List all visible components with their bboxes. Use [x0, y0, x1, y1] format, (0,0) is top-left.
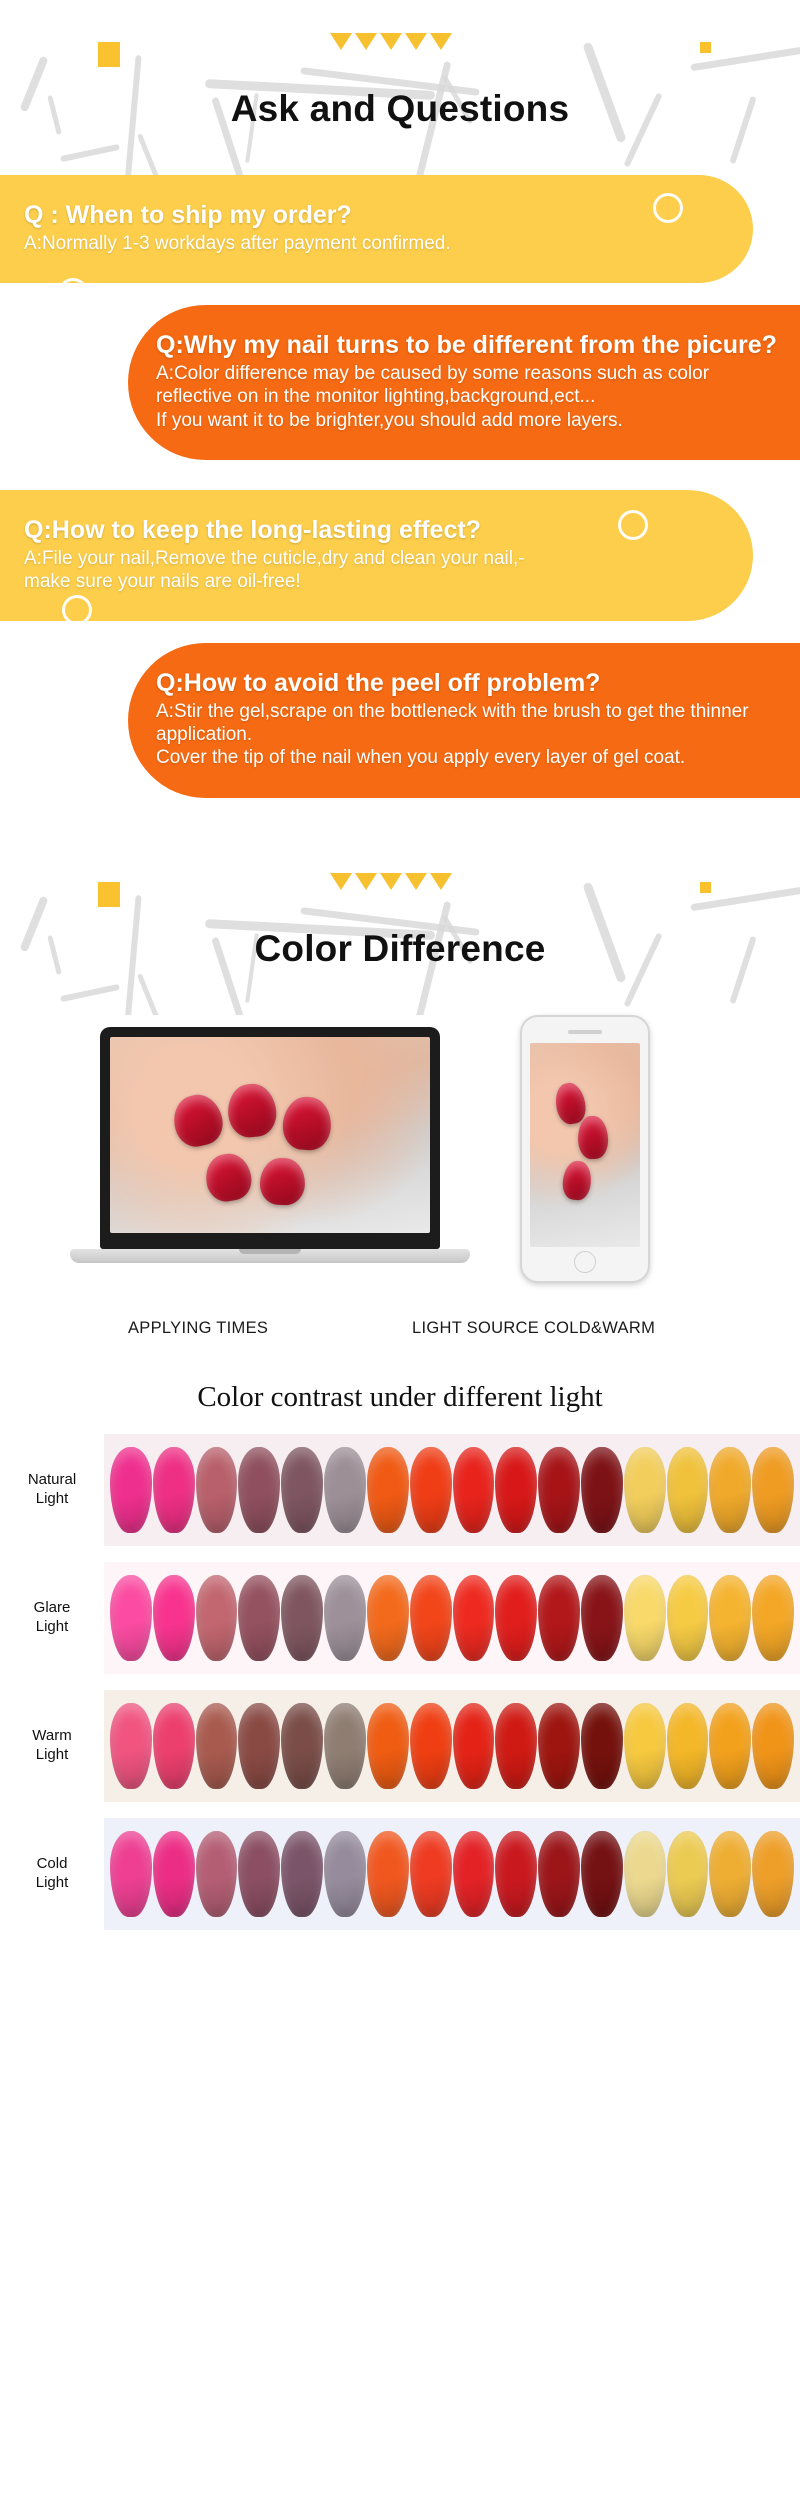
- swatch-nail: [709, 1703, 751, 1789]
- swatch-nail: [281, 1703, 323, 1789]
- nail-photo-laptop: [110, 1037, 430, 1233]
- nail-shape: [561, 1160, 592, 1201]
- faq-question: Q : When to ship my order?: [24, 201, 713, 230]
- crack-decor: [137, 973, 164, 1015]
- swatch-nail: [196, 1703, 238, 1789]
- swatch-nail: [453, 1447, 495, 1533]
- swatch-nail: [624, 1575, 666, 1661]
- swatch-nail: [238, 1831, 280, 1917]
- row-label-glare-light: Glare Light: [0, 1599, 104, 1637]
- swatch-strip-cold: [104, 1818, 800, 1930]
- swatch-nail: [324, 1703, 366, 1789]
- caption-applying-times: APPLYING TIMES: [128, 1319, 268, 1338]
- row-label-natural-light: Natural Light: [0, 1471, 104, 1509]
- nail-shape: [281, 1096, 333, 1152]
- swatch-nail: [238, 1575, 280, 1661]
- swatch-nail: [238, 1703, 280, 1789]
- swatch-nail: [667, 1575, 709, 1661]
- faq-section-title: Ask and Questions: [0, 88, 800, 130]
- swatch-nail: [367, 1575, 409, 1661]
- faq-question: Q:How to avoid the peel off problem?: [156, 669, 790, 698]
- swatch-nail: [324, 1447, 366, 1533]
- swatch-nail: [581, 1575, 623, 1661]
- swatch-nail: [538, 1447, 580, 1533]
- swatch-nail: [153, 1575, 195, 1661]
- nail-shape: [578, 1115, 609, 1159]
- nail-photo-phone: [530, 1043, 640, 1247]
- nail-shape: [202, 1151, 254, 1205]
- nail-shape: [226, 1081, 279, 1139]
- swatch-nail: [410, 1447, 452, 1533]
- faq-answer: A:Color difference may be caused by some…: [156, 362, 790, 432]
- swatch-nail: [110, 1703, 152, 1789]
- swatch-nail: [110, 1447, 152, 1533]
- swatch-nail: [281, 1831, 323, 1917]
- swatch-nail: [410, 1575, 452, 1661]
- phone-mockup: [520, 1015, 650, 1283]
- caption-light-source: LIGHT SOURCE COLD&WARM: [412, 1319, 655, 1338]
- swatch-nail: [453, 1831, 495, 1917]
- swatch-nail: [667, 1831, 709, 1917]
- ring-decor: [62, 595, 92, 621]
- ring-decor: [653, 193, 683, 223]
- swatch-nail: [624, 1703, 666, 1789]
- triangle-icon: [430, 873, 452, 890]
- row-label-cold-light: Cold Light: [0, 1855, 104, 1893]
- swatch-nail: [538, 1831, 580, 1917]
- swatch-nail: [153, 1703, 195, 1789]
- swatch-nail: [367, 1447, 409, 1533]
- device-captions: APPLYING TIMES LIGHT SOURCE COLD&WARM: [0, 1305, 800, 1359]
- swatch-nail: [581, 1447, 623, 1533]
- swatch-nail: [581, 1703, 623, 1789]
- phone-home-button: [574, 1251, 596, 1273]
- swatch-nail: [709, 1831, 751, 1917]
- product-detail-page: Ask and Questions Q : When to ship my or…: [0, 0, 800, 2511]
- nail-shape: [260, 1157, 306, 1206]
- swatch-nail: [196, 1575, 238, 1661]
- laptop-screen: [100, 1027, 440, 1249]
- swatch-nail: [709, 1575, 751, 1661]
- swatch-nail: [196, 1831, 238, 1917]
- triangle-icon: [330, 873, 352, 890]
- swatch-nail: [281, 1575, 323, 1661]
- laptop-mockup: [70, 1027, 470, 1285]
- ring-decor: [58, 278, 88, 283]
- phone-speaker: [568, 1030, 602, 1034]
- swatch-nail: [624, 1831, 666, 1917]
- yellow-square-decor: [700, 42, 711, 53]
- swatch-nail: [196, 1447, 238, 1533]
- triangle-icon: [355, 873, 377, 890]
- swatch-nail: [110, 1831, 152, 1917]
- swatch-nail: [538, 1703, 580, 1789]
- spacer: [0, 460, 800, 490]
- swatch-nail: [581, 1831, 623, 1917]
- swatch-nail: [752, 1703, 794, 1789]
- triangle-icon: [405, 33, 427, 50]
- swatch-nail: [538, 1575, 580, 1661]
- swatch-nail: [495, 1703, 537, 1789]
- device-comparison: [0, 1015, 800, 1305]
- swatch-nail: [667, 1447, 709, 1533]
- swatch-nail: [324, 1575, 366, 1661]
- swatch-row: Glare Light: [0, 1562, 800, 1674]
- swatch-nail: [410, 1703, 452, 1789]
- swatch-nail: [153, 1831, 195, 1917]
- triangle-icon: [380, 873, 402, 890]
- spacer: [0, 798, 800, 840]
- swatch-nail: [153, 1447, 195, 1533]
- spacer: [0, 283, 800, 305]
- swatch-nail: [410, 1831, 452, 1917]
- swatch-nail: [367, 1703, 409, 1789]
- triangle-icon: [430, 33, 452, 50]
- contrast-title: Color contrast under different light: [0, 1359, 800, 1434]
- faq-item-2: Q:Why my nail turns to be different from…: [128, 305, 800, 460]
- triangle-row-decor: [330, 33, 452, 50]
- triangle-icon: [405, 873, 427, 890]
- swatch-strip-glare: [104, 1562, 800, 1674]
- ring-decor: [618, 510, 648, 540]
- yellow-square-decor: [98, 42, 120, 67]
- triangle-row-decor: [330, 873, 452, 890]
- yellow-square-decor: [98, 882, 120, 907]
- crack-decor: [60, 144, 120, 162]
- faq-item-1: Q : When to ship my order? A:Normally 1-…: [0, 175, 753, 283]
- swatch-nail: [453, 1575, 495, 1661]
- triangle-icon: [355, 33, 377, 50]
- swatch-nail: [752, 1447, 794, 1533]
- spacer: [0, 621, 800, 643]
- crack-decor: [60, 983, 120, 1001]
- swatch-nail: [238, 1447, 280, 1533]
- faq-item-3: Q:How to keep the long-lasting effect? A…: [0, 490, 753, 621]
- swatch-table: Natural Light Glare Light Warm Light Col…: [0, 1434, 800, 1970]
- crack-decor: [137, 133, 164, 175]
- swatch-row: Cold Light: [0, 1818, 800, 1930]
- swatch-row: Natural Light: [0, 1434, 800, 1546]
- color-difference-banner: Color Difference: [0, 840, 800, 1015]
- swatch-strip-warm: [104, 1690, 800, 1802]
- swatch-nail: [281, 1447, 323, 1533]
- swatch-nail: [495, 1447, 537, 1533]
- swatch-nail: [752, 1575, 794, 1661]
- swatch-strip-natural: [104, 1434, 800, 1546]
- swatch-nail: [495, 1575, 537, 1661]
- nail-shape: [169, 1090, 228, 1151]
- laptop-notch: [239, 1249, 301, 1254]
- color-section-title: Color Difference: [0, 928, 800, 970]
- faq-answer: A:Normally 1-3 workdays after payment co…: [24, 232, 713, 255]
- swatch-nail: [453, 1703, 495, 1789]
- swatch-nail: [495, 1831, 537, 1917]
- row-label-warm-light: Warm Light: [0, 1727, 104, 1765]
- faq-banner: Ask and Questions: [0, 0, 800, 175]
- faq-answer: A:File your nail,Remove the cuticle,dry …: [24, 547, 713, 593]
- faq-question: Q:Why my nail turns to be different from…: [156, 331, 790, 360]
- faq-list: Q : When to ship my order? A:Normally 1-…: [0, 175, 800, 798]
- swatch-nail: [709, 1447, 751, 1533]
- faq-answer: A:Stir the gel,scrape on the bottleneck …: [156, 700, 790, 770]
- triangle-icon: [380, 33, 402, 50]
- swatch-nail: [110, 1575, 152, 1661]
- swatch-nail: [367, 1831, 409, 1917]
- swatch-nail: [624, 1447, 666, 1533]
- yellow-square-decor: [700, 882, 711, 893]
- swatch-row: Warm Light: [0, 1690, 800, 1802]
- swatch-nail: [324, 1831, 366, 1917]
- triangle-icon: [330, 33, 352, 50]
- swatch-nail: [667, 1703, 709, 1789]
- faq-question: Q:How to keep the long-lasting effect?: [24, 516, 713, 545]
- swatch-nail: [752, 1831, 794, 1917]
- faq-item-4: Q:How to avoid the peel off problem? A:S…: [128, 643, 800, 798]
